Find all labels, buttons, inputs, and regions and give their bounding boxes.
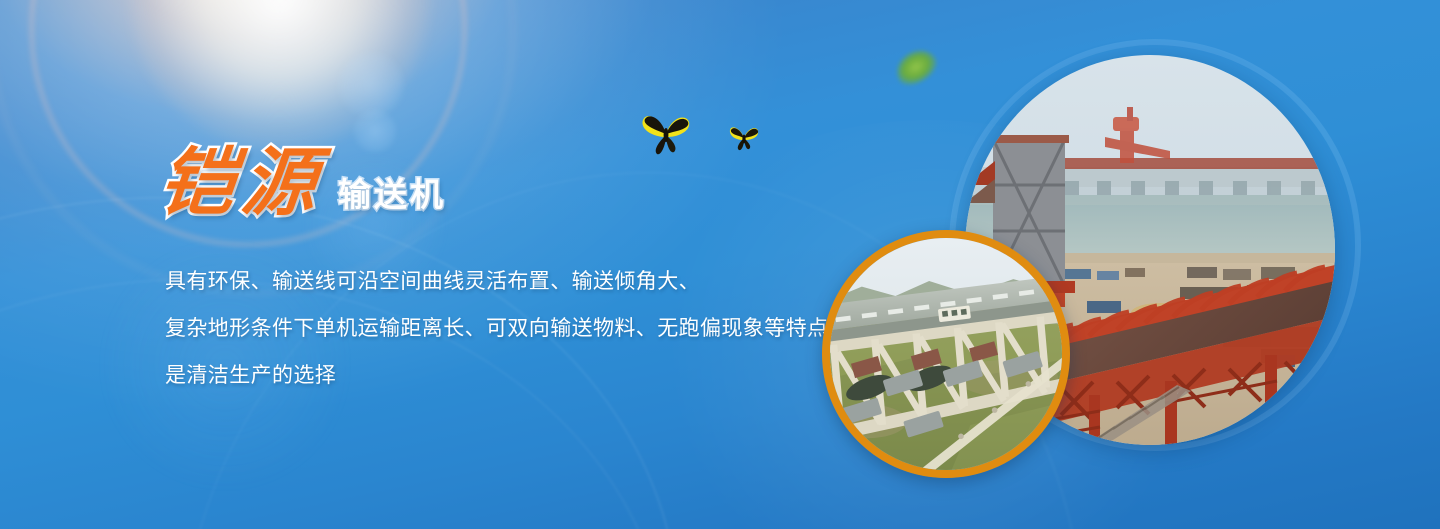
brand-name: 铠源 <box>156 146 328 220</box>
butterfly-icon <box>728 122 760 152</box>
sun-flare-icon <box>130 0 430 150</box>
lens-bubble-icon <box>336 50 406 120</box>
beige-truss-conveyor-field-image <box>830 238 1062 470</box>
butterfly-icon <box>640 108 692 156</box>
product-banner: 铠源 输送机 具有环保、输送线可沿空间曲线灵活布置、输送倾角大、 复杂地形条件下… <box>0 0 1440 529</box>
brand-subtitle: 输送机 <box>338 178 446 211</box>
banner-headline: 铠源 输送机 <box>160 146 446 220</box>
leaf-icon <box>890 43 942 91</box>
small-photo-circle <box>822 230 1070 478</box>
